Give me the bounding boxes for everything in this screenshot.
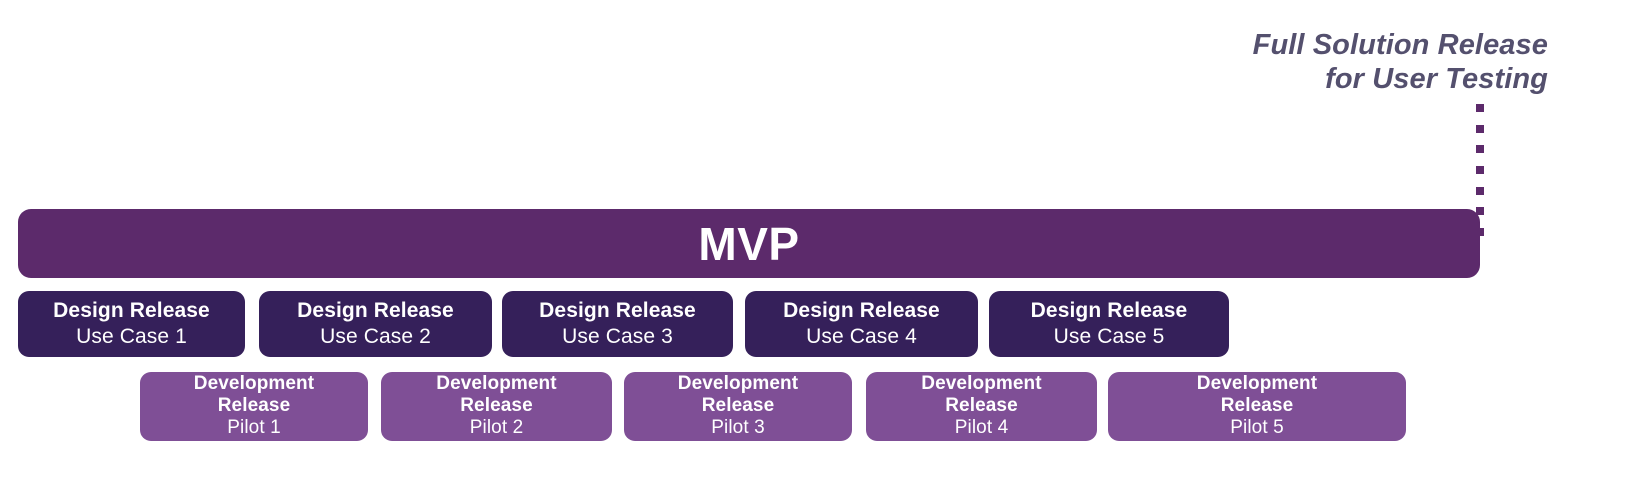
full-solution-release-annotation: Full Solution Release for User Testing: [988, 28, 1548, 96]
development-release-card-subtitle: Pilot 2: [470, 417, 524, 440]
mvp-bar[interactable]: MVP: [18, 209, 1480, 278]
design-release-card-subtitle: Use Case 2: [320, 324, 431, 350]
connector-dot: [1476, 104, 1484, 112]
design-release-card-subtitle: Use Case 1: [76, 324, 187, 350]
development-release-card-subtitle: Pilot 4: [955, 417, 1009, 440]
design-release-card-subtitle: Use Case 3: [562, 324, 673, 350]
development-release-card-title: Development Release: [436, 373, 556, 416]
connector-dot: [1476, 166, 1484, 174]
development-release-card-5[interactable]: Development ReleasePilot 5: [1108, 372, 1406, 441]
design-release-card-5[interactable]: Design ReleaseUse Case 5: [989, 291, 1229, 357]
design-release-card-subtitle: Use Case 5: [1054, 324, 1165, 350]
development-release-card-3[interactable]: Development ReleasePilot 3: [624, 372, 852, 441]
development-release-card-subtitle: Pilot 3: [711, 417, 765, 440]
design-release-card-title: Design Release: [1031, 299, 1188, 323]
development-release-card-subtitle: Pilot 1: [227, 417, 281, 440]
design-release-card-subtitle: Use Case 4: [806, 324, 917, 350]
mvp-label: MVP: [698, 221, 799, 267]
design-release-card-title: Design Release: [539, 299, 696, 323]
connector-dot: [1476, 187, 1484, 195]
development-release-card-subtitle: Pilot 5: [1230, 417, 1284, 440]
development-release-card-title: Development Release: [1197, 373, 1317, 416]
development-release-card-title: Development Release: [194, 373, 314, 416]
development-release-card-title: Development Release: [921, 373, 1041, 416]
design-release-card-title: Design Release: [53, 299, 210, 323]
development-release-card-2[interactable]: Development ReleasePilot 2: [381, 372, 612, 441]
roadmap-diagram: Full Solution Release for User Testing M…: [0, 0, 1648, 504]
design-release-card-1[interactable]: Design ReleaseUse Case 1: [18, 291, 245, 357]
development-release-card-1[interactable]: Development ReleasePilot 1: [140, 372, 368, 441]
design-release-card-4[interactable]: Design ReleaseUse Case 4: [745, 291, 978, 357]
connector-dot: [1476, 145, 1484, 153]
design-release-card-title: Design Release: [783, 299, 940, 323]
connector-dot: [1476, 125, 1484, 133]
design-release-card-2[interactable]: Design ReleaseUse Case 2: [259, 291, 492, 357]
development-release-card-4[interactable]: Development ReleasePilot 4: [866, 372, 1097, 441]
design-release-card-title: Design Release: [297, 299, 454, 323]
design-release-card-3[interactable]: Design ReleaseUse Case 3: [502, 291, 733, 357]
development-release-card-title: Development Release: [678, 373, 798, 416]
